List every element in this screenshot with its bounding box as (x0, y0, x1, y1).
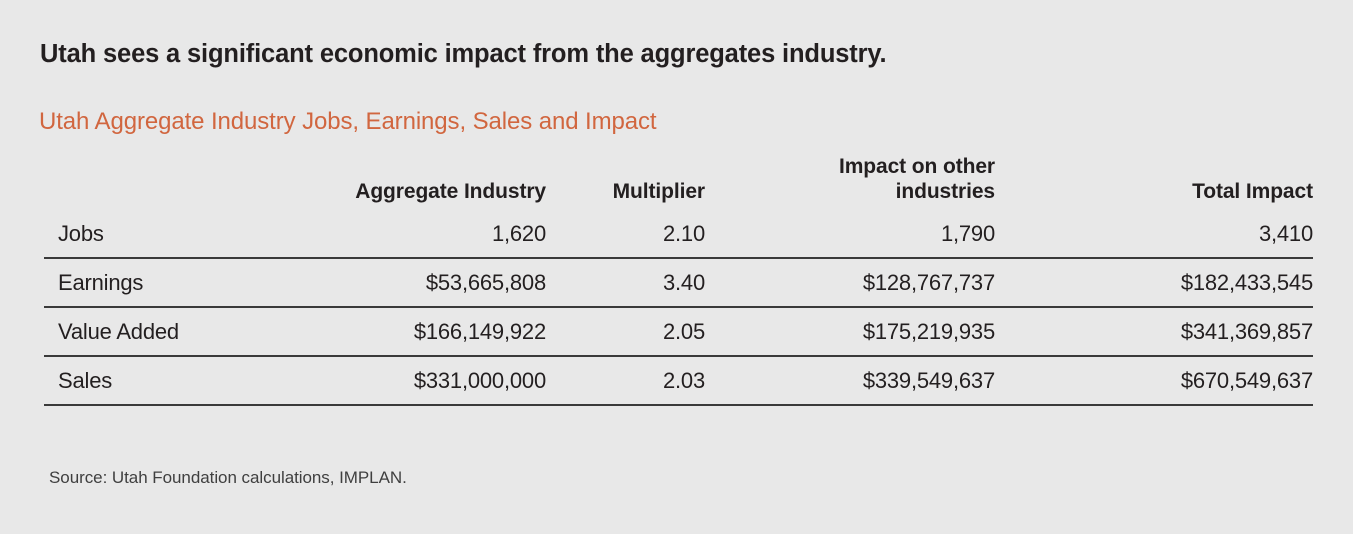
page-subtitle: Utah Aggregate Industry Jobs, Earnings, … (39, 108, 656, 136)
column-header-aggregate-industry: Aggregate Industry (294, 155, 546, 210)
column-header-label (44, 155, 294, 210)
table-body: Jobs 1,620 2.10 1,790 3,410 Earnings $53… (44, 210, 1313, 405)
page-title: Utah sees a significant economic impact … (40, 40, 886, 69)
cell-value-added-aggregate: $166,149,922 (294, 307, 546, 356)
cell-value-added-multiplier: 2.05 (546, 307, 705, 356)
cell-jobs-aggregate: 1,620 (294, 210, 546, 258)
data-table-container: Aggregate Industry Multiplier Impact on … (44, 155, 1313, 406)
cell-earnings-multiplier: 3.40 (546, 258, 705, 307)
column-header-impact-on-other-industries-line2: industries (705, 180, 995, 205)
column-header-impact-on-other-industries-line1: Impact on other (705, 155, 995, 180)
impact-data-table: Aggregate Industry Multiplier Impact on … (44, 155, 1313, 406)
table-row: Value Added $166,149,922 2.05 $175,219,9… (44, 307, 1313, 356)
cell-earnings-total-impact: $182,433,545 (995, 258, 1313, 307)
source-note: Source: Utah Foundation calculations, IM… (49, 468, 407, 488)
cell-value-added-total-impact: $341,369,857 (995, 307, 1313, 356)
cell-sales-other-industries: $339,549,637 (705, 356, 995, 405)
column-header-total-impact: Total Impact (995, 155, 1313, 210)
table-header-row: Aggregate Industry Multiplier Impact on … (44, 155, 1313, 210)
table-header: Aggregate Industry Multiplier Impact on … (44, 155, 1313, 210)
column-header-multiplier: Multiplier (546, 155, 705, 210)
row-label-earnings: Earnings (44, 258, 294, 307)
column-header-impact-on-other-industries: Impact on other industries (705, 155, 995, 210)
cell-sales-multiplier: 2.03 (546, 356, 705, 405)
cell-jobs-total-impact: 3,410 (995, 210, 1313, 258)
row-label-sales: Sales (44, 356, 294, 405)
cell-value-added-other-industries: $175,219,935 (705, 307, 995, 356)
row-label-value-added: Value Added (44, 307, 294, 356)
cell-earnings-other-industries: $128,767,737 (705, 258, 995, 307)
cell-earnings-aggregate: $53,665,808 (294, 258, 546, 307)
cell-jobs-multiplier: 2.10 (546, 210, 705, 258)
row-label-jobs: Jobs (44, 210, 294, 258)
cell-jobs-other-industries: 1,790 (705, 210, 995, 258)
cell-sales-total-impact: $670,549,637 (995, 356, 1313, 405)
column-header-aggregate-industry-line2: Aggregate Industry (294, 180, 546, 205)
cell-sales-aggregate: $331,000,000 (294, 356, 546, 405)
infographic-table-panel: Utah sees a significant economic impact … (0, 0, 1353, 534)
column-header-total-impact-line2: Total Impact (995, 180, 1313, 205)
table-row: Earnings $53,665,808 3.40 $128,767,737 $… (44, 258, 1313, 307)
table-row: Sales $331,000,000 2.03 $339,549,637 $67… (44, 356, 1313, 405)
column-header-multiplier-line2: Multiplier (546, 180, 705, 205)
table-row: Jobs 1,620 2.10 1,790 3,410 (44, 210, 1313, 258)
